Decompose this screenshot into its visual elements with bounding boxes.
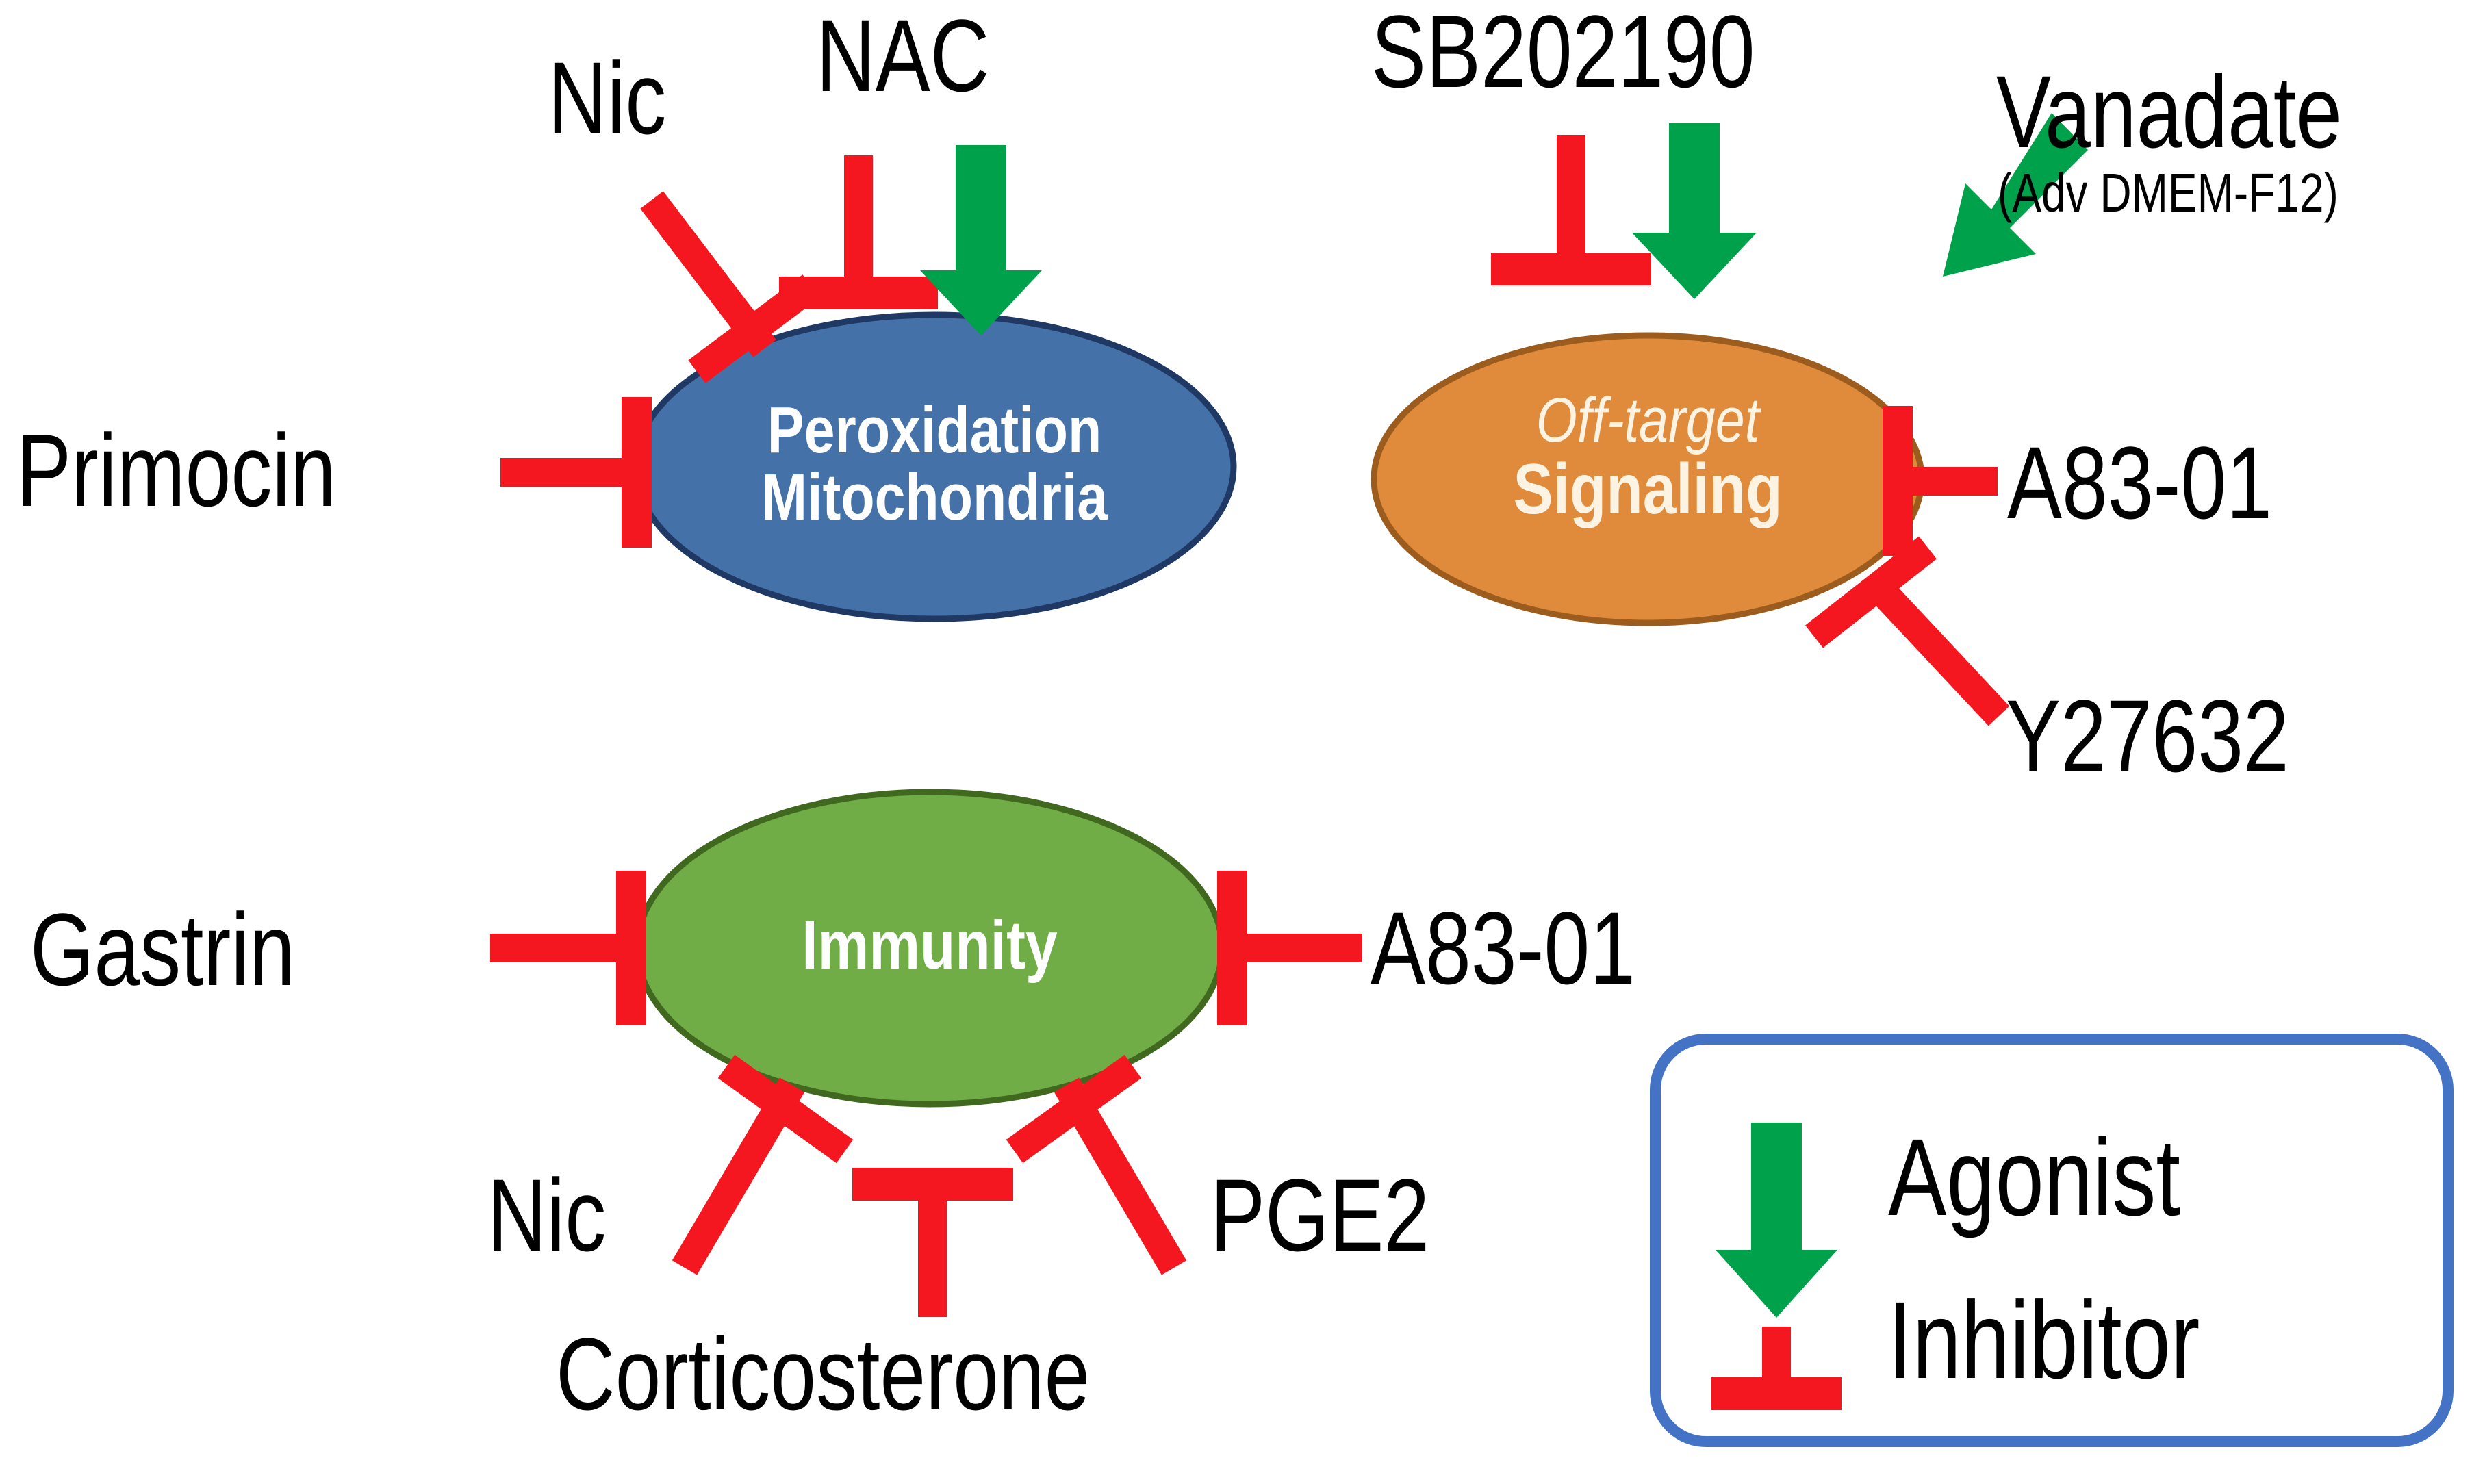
node-signaling-label: Off-target Signaling (1418, 389, 1878, 526)
edge-corticosterone-inhibits-immunity (852, 1182, 1013, 1317)
node-peroxidation-label: Peroxidation Mitochondria (690, 397, 1179, 531)
node-signaling-line1: Off-target (1418, 389, 1878, 453)
label-pge2[interactable]: PGE2 (1210, 1164, 1429, 1266)
label-nic-bottom[interactable]: Nic (487, 1164, 606, 1266)
edge-a8301-inhibits-immunity (1232, 871, 1362, 1025)
label-corticosterone[interactable]: Corticosterone (556, 1322, 1090, 1425)
label-nac[interactable]: NAC (816, 4, 989, 107)
edge-primocin-inhibits-peroxidation (500, 397, 637, 548)
edge-nic-inhibits-immunity (685, 1066, 845, 1268)
label-vanadate[interactable]: Vanadate (1996, 60, 2342, 163)
edge-pge2-inhibits-immunity (1015, 1066, 1174, 1268)
node-peroxidation-line1: Peroxidation (690, 397, 1179, 464)
legend-agonist-label: Agonist (1888, 1123, 2180, 1232)
node-signaling-line2: Signaling (1418, 453, 1878, 526)
label-y27632[interactable]: Y27632 (2006, 685, 2289, 787)
label-a8301-immunity[interactable]: A83-01 (1371, 897, 1635, 999)
label-gastrin[interactable]: Gastrin (30, 898, 295, 1001)
label-a8301-signaling[interactable]: A83-01 (2007, 431, 2272, 534)
legend-inhibitor-label: Inhibitor (1888, 1285, 2200, 1395)
label-vanadate-sublabel: (Adv DMEM-F12) (1998, 166, 2339, 220)
edge-nac-inhibits-peroxidation (779, 155, 938, 294)
label-nic-top[interactable]: Nic (548, 47, 666, 149)
edge-sb202190-inhibits-signaling (1491, 135, 1651, 270)
node-peroxidation-line2: Mitochondria (690, 464, 1179, 531)
edge-a8301-inhibits-signaling (1889, 406, 1998, 556)
label-primocin[interactable]: Primocin (16, 419, 336, 522)
node-immunity-label: Immunity (685, 910, 1174, 980)
edge-gastrin-inhibits-immunity (490, 871, 633, 1025)
diagram-canvas: Peroxidation Mitochondria Off-target Sig… (0, 0, 2472, 1484)
label-sb202190[interactable]: SB202190 (1371, 0, 1755, 103)
node-immunity-line1: Immunity (685, 910, 1174, 980)
edge-nac-activates-peroxidation (920, 145, 1042, 335)
